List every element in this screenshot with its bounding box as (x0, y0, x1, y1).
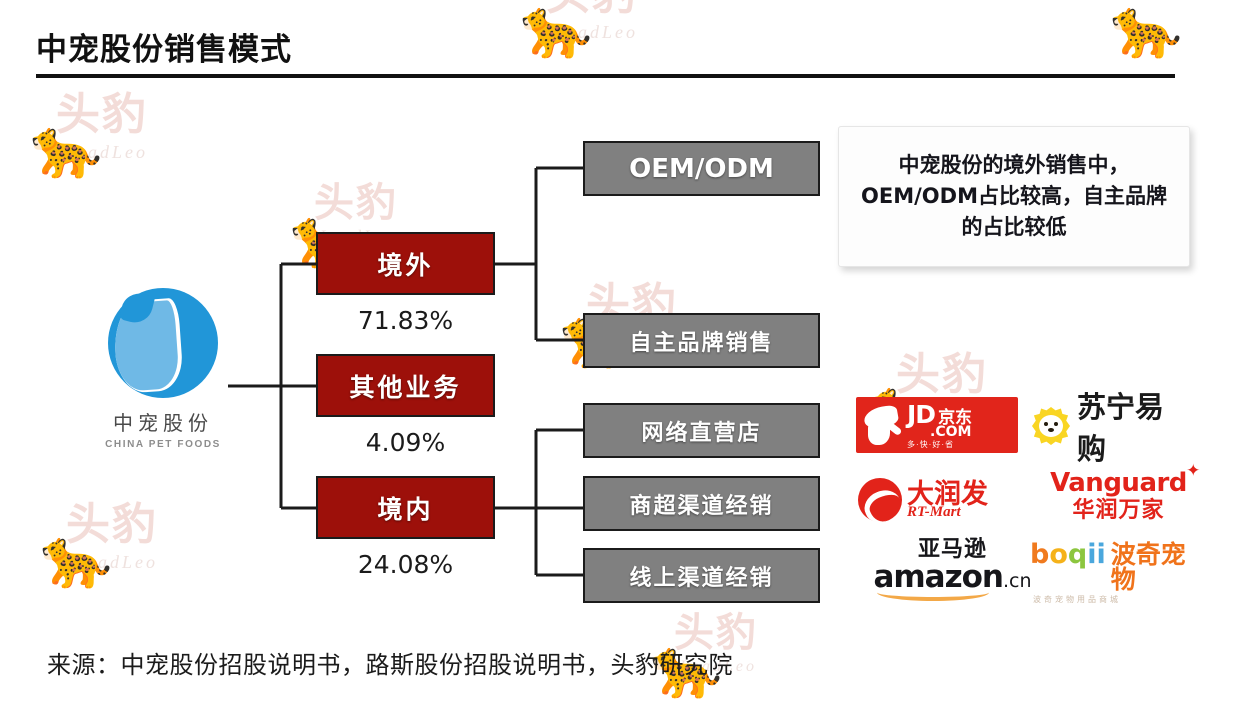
boqii-name-cn: 波奇宠物 (1111, 542, 1205, 592)
vanguard-wordmark: Vanguard ✦ (1050, 470, 1187, 496)
amazon-smile-icon (877, 584, 989, 601)
brand-logo-amazon: 亚马逊 amazon.cn (870, 539, 1035, 593)
jd-dog-icon (862, 403, 906, 447)
node-supermarket-channel[interactable]: 商超渠道经销 (583, 476, 820, 531)
node-overseas[interactable]: 境外 (316, 232, 495, 295)
source-note: 来源：中宠股份招股说明书，路斯股份招股说明书，头豹研究院 (47, 645, 733, 680)
node-oem-odm[interactable]: OEM/ODM (583, 141, 820, 196)
brand-logo-vanguard: Vanguard ✦ 华润万家 (1036, 470, 1201, 528)
slide-canvas: 🐆 头豹 LeadLeo 🐆 头豹 LeadLeo 🐆 头豹 LeadLeo 🐆… (0, 0, 1234, 718)
company-name-en: CHINA PET FOODS (63, 439, 263, 450)
suning-name-cn: 苏宁易购 (1077, 384, 1192, 468)
boqii-subtitle: 波奇宠物用品商城 (1033, 596, 1205, 604)
jd-wordmark: JD (907, 402, 935, 427)
brand-logo-suning: 苏宁易购 (1032, 400, 1192, 452)
jd-domain: .COM (930, 425, 971, 439)
company-logo: 中宠股份 CHINA PET FOODS (63, 288, 263, 450)
jd-slogan: 多·快·好·省 (907, 441, 1018, 449)
node-online-channel[interactable]: 线上渠道经销 (583, 548, 820, 603)
vanguard-name-latin: Vanguard (1050, 468, 1187, 498)
callout-text: 中宠股份的境外销售中，OEM/ODM占比较高，自主品牌的占比较低 (853, 150, 1175, 243)
brand-logo-rt-mart: 大润发 RT-Mart (858, 473, 1028, 527)
rt-mart-swoosh-icon (858, 478, 902, 522)
share-overseas: 71.83% (316, 306, 495, 335)
brand-logo-boqii: boqii 波奇宠物 波奇宠物用品商城 (1030, 541, 1205, 604)
share-other-business: 4.09% (316, 428, 495, 457)
star-icon: ✦ (1186, 463, 1200, 480)
amazon-name-cn: 亚马逊 (870, 539, 1035, 561)
boqii-wordmark: b (1030, 541, 1049, 568)
amazon-suffix: .cn (1003, 570, 1032, 592)
node-own-brand-sales[interactable]: 自主品牌销售 (583, 313, 820, 368)
node-other-business[interactable]: 其他业务 (316, 354, 495, 417)
callout-box: 中宠股份的境外销售中，OEM/ODM占比较高，自主品牌的占比较低 (838, 126, 1190, 267)
company-name-cn: 中宠股份 (63, 407, 263, 436)
brand-logo-jd: JD 京东 .COM 多·快·好·省 (856, 397, 1018, 453)
suning-lion-icon (1032, 407, 1070, 445)
share-domestic: 24.08% (316, 550, 495, 579)
china-pet-foods-logo-icon (108, 288, 218, 398)
vanguard-name-cn: 华润万家 (1036, 500, 1201, 522)
node-online-direct-store[interactable]: 网络直营店 (583, 403, 820, 458)
node-domestic[interactable]: 境内 (316, 476, 495, 539)
